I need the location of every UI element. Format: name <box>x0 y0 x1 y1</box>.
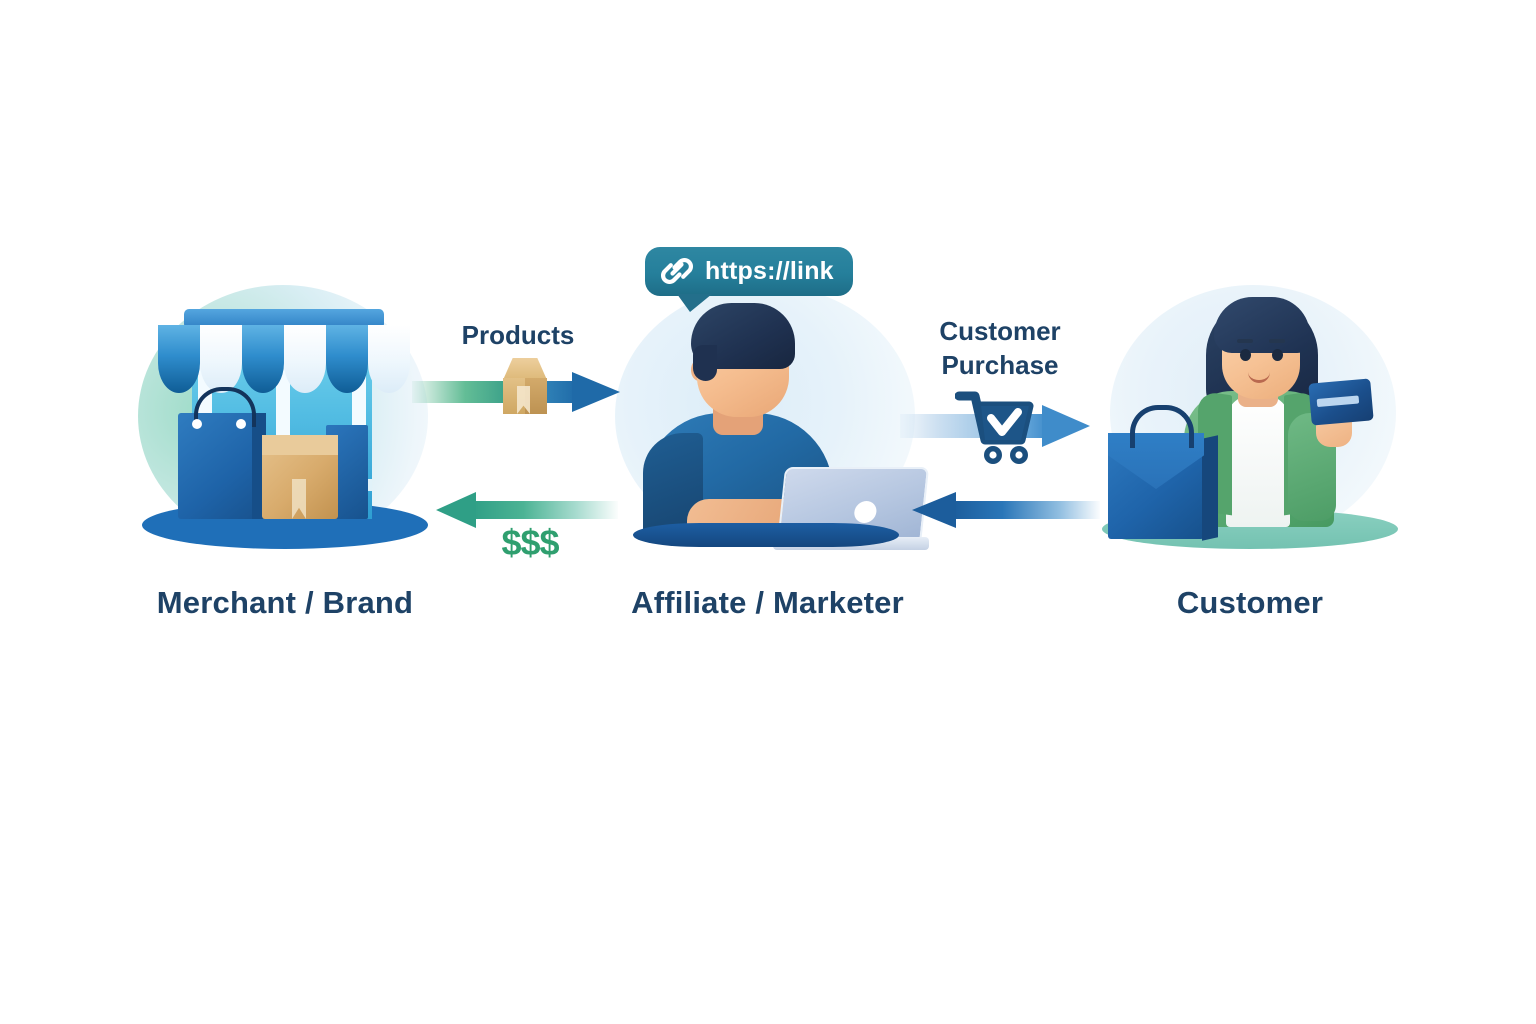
arrow-label-commission: $$$ <box>470 522 590 564</box>
credit-card-icon <box>1308 378 1373 425</box>
arrow-sale-head <box>912 492 956 528</box>
arrow-label-customer-purchase: Customer Purchase <box>905 315 1095 383</box>
merchant-package-box-icon <box>262 435 338 519</box>
arrow-purchase-head <box>1042 405 1090 447</box>
link-url-text: https://link <box>705 257 834 286</box>
customer-shirt <box>1226 395 1290 527</box>
arrow-sale-shaft <box>952 501 1100 519</box>
customer-eye-left <box>1240 349 1251 361</box>
affiliate-link-badge[interactable]: https://link <box>645 247 853 296</box>
node-label-merchant: Merchant / Brand <box>120 585 450 621</box>
node-label-affiliate: Affiliate / Marketer <box>595 585 940 621</box>
node-merchant[interactable]: Merchant / Brand <box>120 285 450 555</box>
arrow-products-head <box>572 372 620 412</box>
node-affiliate[interactable]: Affiliate / Marketer <box>595 285 940 555</box>
package-box-icon <box>497 358 553 414</box>
customer-hair-top <box>1214 297 1310 353</box>
customer-eye-right <box>1272 349 1283 361</box>
arrow-label-products: Products <box>430 320 606 351</box>
shopping-cart-icon <box>955 388 1037 466</box>
diagram-canvas: Merchant / Brand Affiliate / Marketer <box>0 0 1536 1024</box>
customer-eyebrow-left <box>1237 339 1253 343</box>
merchant-shopping-bag-icon <box>178 413 266 519</box>
link-chain-icon <box>660 256 694 286</box>
arrow-tracked-sale <box>912 492 1100 528</box>
customer-eyebrow-right <box>1269 339 1285 343</box>
node-label-customer: Customer <box>1080 585 1420 621</box>
arrow-commission-shaft <box>472 501 618 519</box>
node-customer[interactable]: Customer <box>1080 285 1420 555</box>
affiliate-desk-surface <box>633 523 899 547</box>
storefront-awning-icon <box>158 325 410 393</box>
affiliate-hair <box>691 303 795 369</box>
arrow-products-shaft <box>412 381 578 403</box>
customer-shopping-bag-icon <box>1108 433 1204 539</box>
